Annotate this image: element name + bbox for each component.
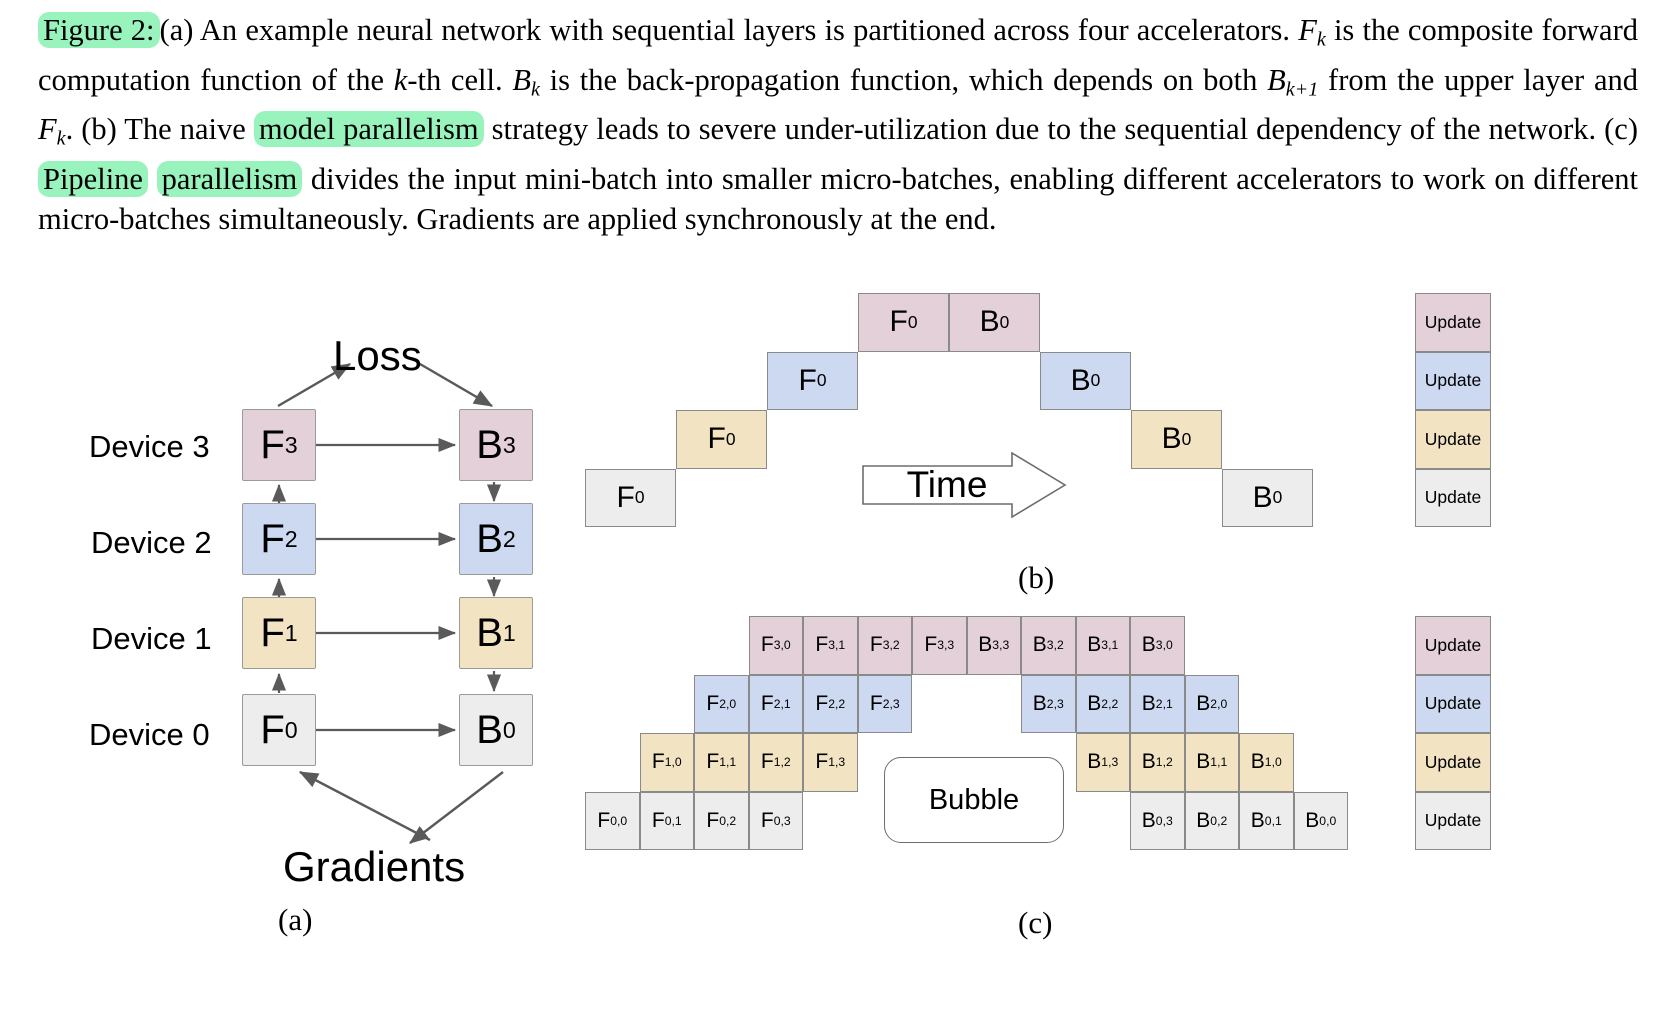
panel-c-cell-d3-F3-0-main: F: [761, 633, 774, 657]
panel-c-update-d2-label: Update: [1425, 693, 1481, 714]
bubble-label: Bubble: [929, 784, 1019, 817]
panel-c-cell-d1-F1-0-sub: 1,0: [665, 755, 682, 769]
panel-c-cell-d1-F1-0-main: F: [652, 750, 665, 774]
panel-c-cell-d3-B3-0-main: B: [1142, 633, 1156, 657]
panel-c-cell-d3-F3-0: F3,0: [749, 616, 804, 675]
panel-c-cell-d3-B3-2-main: B: [1033, 633, 1047, 657]
panel-c-cell-d0-F0-1-main: F: [652, 809, 665, 833]
panel-c-cell-d0-B0-0-sub: 0,0: [1319, 814, 1336, 828]
panel-c-tag: (c): [1018, 905, 1052, 941]
panel-c-cell-d1-B1-1: B1,1: [1185, 733, 1240, 792]
panel-c-cell-d1-B1-1-sub: 1,1: [1210, 755, 1227, 769]
panel-c-cell-d1-B1-2: B1,2: [1130, 733, 1185, 792]
panel-c-cell-d0-F0-1-sub: 0,1: [665, 814, 682, 828]
panel-c-cell-d3-B3-1-main: B: [1087, 633, 1101, 657]
panel-c-cell-d3-B3-2: B3,2: [1021, 616, 1076, 675]
panel-c-cell-d0-F0-3-sub: 0,3: [774, 814, 791, 828]
panel-c-cell-d2-F2-0: F2,0: [694, 675, 749, 734]
panel-c-cell-d2-F2-2: F2,2: [803, 675, 858, 734]
panel-c-cell-d3-F3-2-main: F: [870, 633, 883, 657]
panel-c-cell-d3-F3-0-sub: 3,0: [774, 638, 791, 652]
panel-c-cell-d2-F2-1: F2,1: [749, 675, 804, 734]
panel-c-cell-d1-F1-1: F1,1: [694, 733, 749, 792]
panel-c-update-d2: Update: [1415, 675, 1491, 734]
panel-c-cell-d3-F3-3-main: F: [924, 633, 937, 657]
panel-c-cell-d3-B3-3: B3,3: [967, 616, 1022, 675]
panel-c-cell-d1-F1-2-sub: 1,2: [774, 755, 791, 769]
panel-c-cell-d3-F3-3-sub: 3,3: [937, 638, 954, 652]
panel-c-cell-d1-F1-3-main: F: [815, 750, 828, 774]
panel-c-cell-d2-B2-2-main: B: [1087, 692, 1101, 716]
panel-c-cell-d0-F0-1: F0,1: [640, 792, 695, 851]
panel-c-cell-d0-F0-2: F0,2: [694, 792, 749, 851]
panel-c-cell-d3-F3-3: F3,3: [912, 616, 967, 675]
panel-c-cell-d2-F2-1-main: F: [761, 692, 774, 716]
panel-c-cell-d1-B1-0-main: B: [1251, 750, 1265, 774]
panel-c-cell-d2-B2-3-sub: 2,3: [1047, 697, 1064, 711]
panel-c-cell-d1-B1-3: B1,3: [1076, 733, 1131, 792]
panel-c-cell-d0-F0-3: F0,3: [749, 792, 804, 851]
panel-c-cell-d2-F2-3: F2,3: [858, 675, 913, 734]
panel-c-cell-d3-B3-2-sub: 3,2: [1047, 638, 1064, 652]
panel-c-cell-d1-F1-2: F1,2: [749, 733, 804, 792]
panel-c-cell-d2-F2-0-sub: 2,0: [719, 697, 736, 711]
panel-c-cell-d0-B0-0: B0,0: [1294, 792, 1349, 851]
panel-c-cell-d0-F0-3-main: F: [761, 809, 774, 833]
panel-c-cell-d0-F0-2-sub: 0,2: [719, 814, 736, 828]
panel-c-cell-d1-B1-0: B1,0: [1239, 733, 1294, 792]
panel-c-cell-d0-B0-0-main: B: [1305, 809, 1319, 833]
panel-c-cell-d0-B0-1: B0,1: [1239, 792, 1294, 851]
panel-c-cell-d2-B2-2-sub: 2,2: [1101, 697, 1118, 711]
panel-c-cell-d0-B0-2: B0,2: [1185, 792, 1240, 851]
panel-c-cell-d2-B2-3-main: B: [1033, 692, 1047, 716]
panel-c-cell-d1-B1-3-sub: 1,3: [1101, 755, 1118, 769]
panel-c-cell-d3-B3-3-main: B: [978, 633, 992, 657]
panel-c-cell-d1-F1-3-sub: 1,3: [828, 755, 845, 769]
panel-c-update-d3: Update: [1415, 616, 1491, 675]
panel-c-cell-d2-B2-1-main: B: [1142, 692, 1156, 716]
panel-c-cell-d1-F1-1-main: F: [706, 750, 719, 774]
panel-c-cell-d0-F0-0: F0,0: [585, 792, 640, 851]
panel-c-cell-d3-B3-0-sub: 3,0: [1156, 638, 1173, 652]
panel-c-cell-d2-B2-0: B2,0: [1185, 675, 1240, 734]
panel-c-update-d1-label: Update: [1425, 752, 1481, 773]
panel-c-update-d0: Update: [1415, 792, 1491, 851]
panel-c-cell-d0-B0-3: B0,3: [1130, 792, 1185, 851]
panel-c-cell-d2-B2-2: B2,2: [1076, 675, 1131, 734]
panel-c-cell-d0-B0-2-sub: 0,2: [1210, 814, 1227, 828]
panel-c-cell-d1-B1-2-main: B: [1142, 750, 1156, 774]
bubble-box: Bubble: [884, 757, 1064, 843]
panel-c-cell-d2-B2-0-main: B: [1196, 692, 1210, 716]
panel-c-pipeline-parallelism: F3,0F3,1F3,2F3,3B3,3B3,2B3,1B3,0UpdateF2…: [0, 0, 1672, 1012]
panel-c-cell-d1-F1-0: F1,0: [640, 733, 695, 792]
panel-c-cell-d1-B1-2-sub: 1,2: [1156, 755, 1173, 769]
panel-c-cell-d2-B2-3: B2,3: [1021, 675, 1076, 734]
panel-c-cell-d3-F3-2-sub: 3,2: [883, 638, 900, 652]
panel-c-cell-d2-F2-3-sub: 2,3: [883, 697, 900, 711]
panel-c-cell-d2-F2-0-main: F: [706, 692, 719, 716]
panel-c-cell-d3-F3-2: F3,2: [858, 616, 913, 675]
panel-c-cell-d1-F1-3: F1,3: [803, 733, 858, 792]
panel-c-cell-d0-B0-3-sub: 0,3: [1156, 814, 1173, 828]
panel-c-cell-d0-F0-0-sub: 0,0: [610, 814, 627, 828]
panel-c-cell-d0-B0-3-main: B: [1142, 809, 1156, 833]
panel-c-cell-d3-F3-1-main: F: [815, 633, 828, 657]
panel-c-cell-d1-B1-1-main: B: [1196, 750, 1210, 774]
panel-c-cell-d3-B3-0: B3,0: [1130, 616, 1185, 675]
panel-c-cell-d3-B3-3-sub: 3,3: [992, 638, 1009, 652]
panel-c-cell-d1-F1-2-main: F: [761, 750, 774, 774]
panel-c-cell-d0-B0-1-sub: 0,1: [1265, 814, 1282, 828]
panel-c-cell-d3-F3-1: F3,1: [803, 616, 858, 675]
panel-c-update-d3-label: Update: [1425, 635, 1481, 656]
panel-c-cell-d2-F2-3-main: F: [870, 692, 883, 716]
panel-c-cell-d0-B0-2-main: B: [1196, 809, 1210, 833]
panel-c-update-d0-label: Update: [1425, 810, 1481, 831]
panel-c-cell-d2-F2-2-main: F: [815, 692, 828, 716]
panel-c-cell-layer: F3,0F3,1F3,2F3,3B3,3B3,2B3,1B3,0UpdateF2…: [0, 0, 1672, 1012]
panel-c-cell-d0-F0-0-main: F: [597, 809, 610, 833]
panel-c-cell-d2-B2-1-sub: 2,1: [1156, 697, 1173, 711]
panel-c-cell-d1-B1-0-sub: 1,0: [1265, 755, 1282, 769]
panel-c-cell-d3-B3-1-sub: 3,1: [1101, 638, 1118, 652]
panel-c-cell-d2-F2-1-sub: 2,1: [774, 697, 791, 711]
panel-c-update-d1: Update: [1415, 733, 1491, 792]
panel-c-cell-d2-B2-1: B2,1: [1130, 675, 1185, 734]
panel-c-cell-d2-B2-0-sub: 2,0: [1210, 697, 1227, 711]
panel-c-cell-d3-F3-1-sub: 3,1: [828, 638, 845, 652]
panel-c-cell-d2-F2-2-sub: 2,2: [828, 697, 845, 711]
panel-c-cell-d3-B3-1: B3,1: [1076, 616, 1131, 675]
panel-c-cell-d0-B0-1-main: B: [1251, 809, 1265, 833]
panel-c-cell-d1-F1-1-sub: 1,1: [719, 755, 736, 769]
panel-c-cell-d0-F0-2-main: F: [706, 809, 719, 833]
panel-c-cell-d1-B1-3-main: B: [1087, 750, 1101, 774]
